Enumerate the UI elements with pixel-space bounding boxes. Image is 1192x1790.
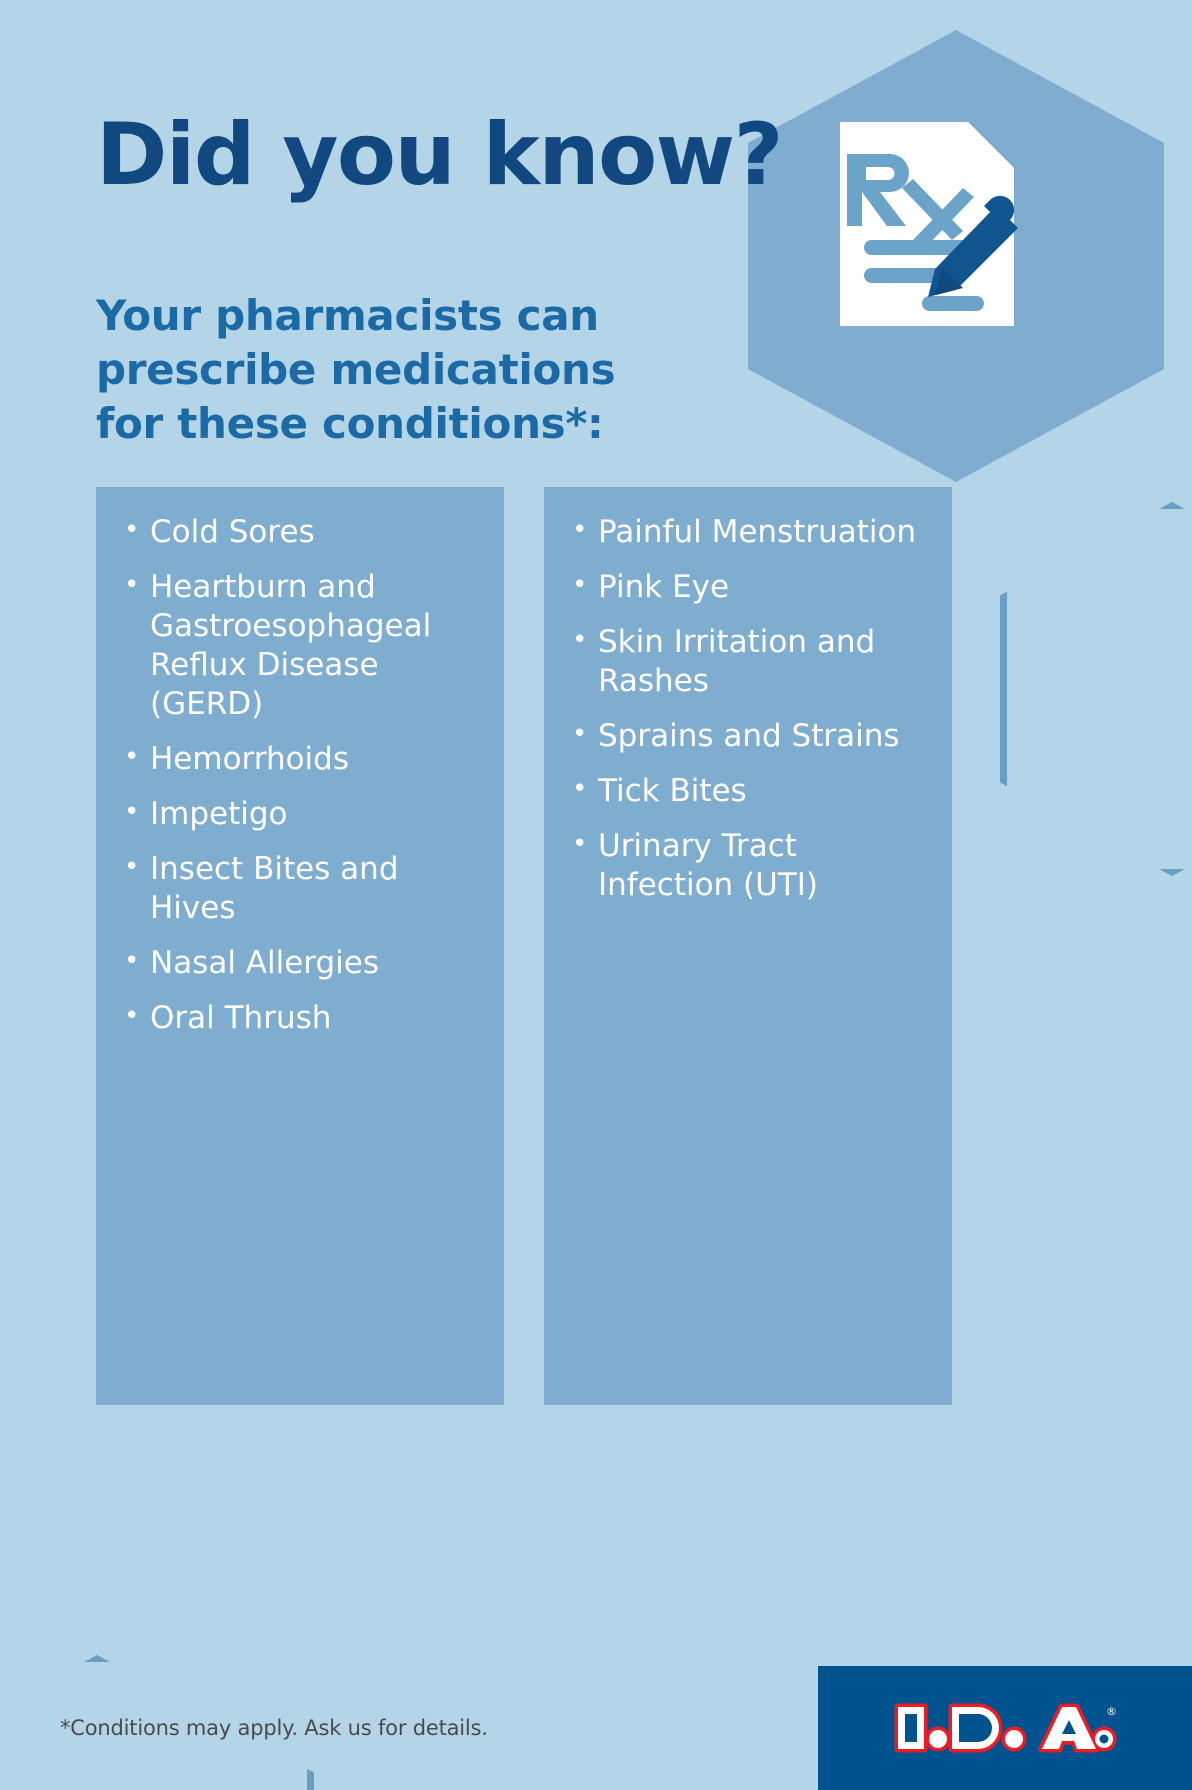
list-item: Cold Sores xyxy=(122,513,486,552)
conditions-list-left: Cold Sores Heartburn and Gastroesophagea… xyxy=(96,487,504,1039)
list-item: Impetigo xyxy=(122,795,486,834)
hexagon-outline-right-edge xyxy=(1000,502,1192,876)
list-item: Skin Irritation and Rashes xyxy=(570,623,934,701)
ida-logo-container: ® xyxy=(818,1666,1192,1790)
list-item: Pink Eye xyxy=(570,568,934,607)
conditions-panel-left: Cold Sores Heartburn and Gastroesophagea… xyxy=(96,487,504,1405)
subheading: Your pharmacists can prescribe medicatio… xyxy=(96,289,656,450)
subheading-line-2: prescribe medications xyxy=(96,343,656,397)
list-item: Painful Menstruation xyxy=(570,513,934,552)
list-item: Insect Bites and Hives xyxy=(122,850,486,928)
page-title: Did you know? xyxy=(96,112,782,198)
conditions-panel-right: Painful Menstruation Pink Eye Skin Irrit… xyxy=(544,487,952,1405)
ida-logo-icon: ® xyxy=(890,1695,1120,1761)
registered-trademark-symbol: ® xyxy=(1106,1705,1117,1718)
conditions-list-right: Painful Menstruation Pink Eye Skin Irrit… xyxy=(544,487,952,905)
prescription-rx-document-icon xyxy=(836,118,1036,330)
footnote-disclaimer: *Conditions may apply. Ask us for detail… xyxy=(60,1716,488,1740)
subheading-line-3: for these conditions*: xyxy=(96,397,656,451)
poster-canvas: Did you know? Your pharmacists can presc… xyxy=(0,0,1192,1790)
subheading-line-1: Your pharmacists can xyxy=(96,289,656,343)
list-item: Heartburn and Gastroesophageal Reflux Di… xyxy=(122,568,486,724)
list-item: Urinary Tract Infection (UTI) xyxy=(570,827,934,905)
list-item: Hemorrhoids xyxy=(122,740,486,779)
list-item: Nasal Allergies xyxy=(122,944,486,983)
list-item: Tick Bites xyxy=(570,772,934,811)
list-item: Oral Thrush xyxy=(122,999,486,1038)
list-item: Sprains and Strains xyxy=(570,717,934,756)
